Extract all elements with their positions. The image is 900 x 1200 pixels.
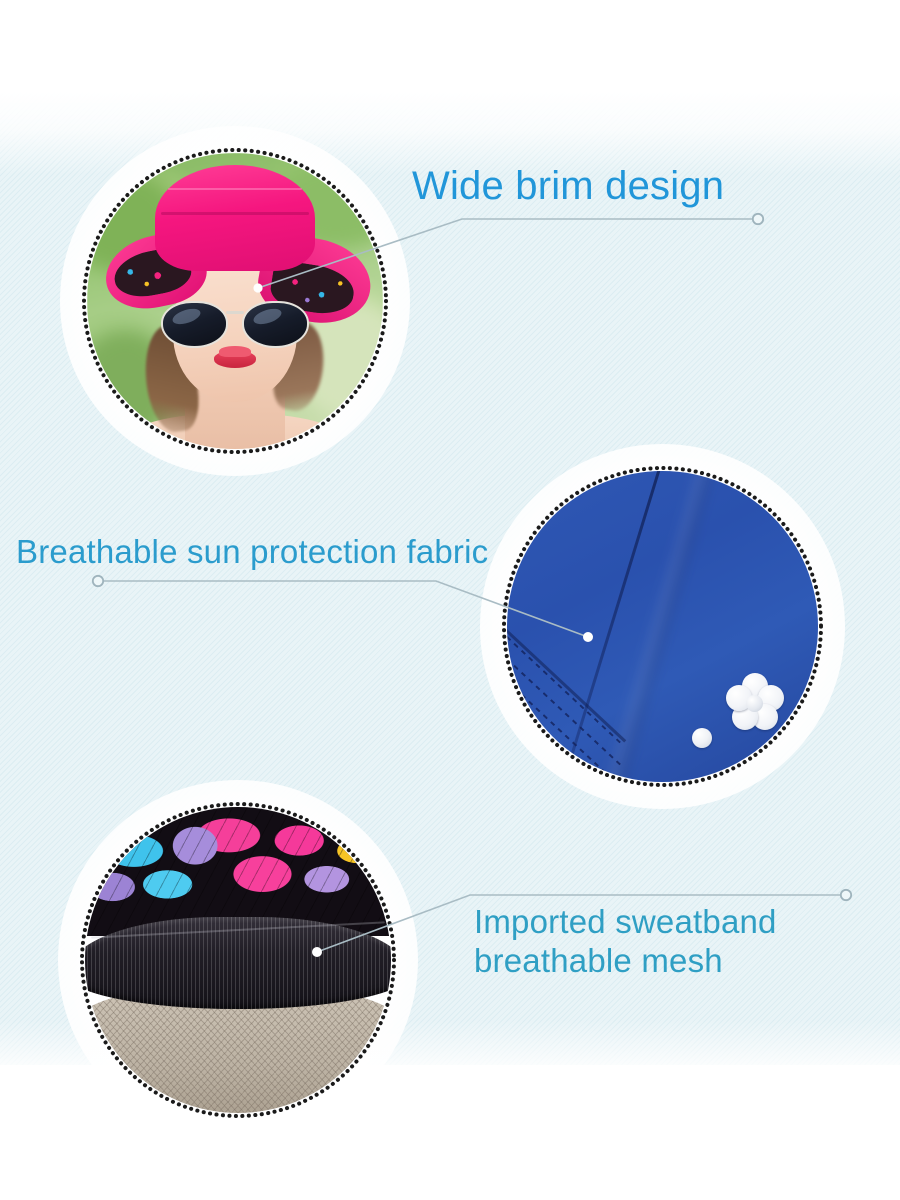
flower-center-pearl bbox=[746, 695, 763, 712]
feature-photo-wide-brim bbox=[80, 146, 390, 456]
sunglasses-lens-left bbox=[161, 301, 228, 348]
feature-caption-imported-sweatband: Imported sweatband breathable mesh bbox=[474, 903, 777, 981]
blue-fabric-surface bbox=[507, 471, 818, 782]
sunglasses-lens-right bbox=[242, 301, 309, 348]
pearl-bead bbox=[794, 748, 809, 763]
photo-royal-blue-fabric-closeup bbox=[507, 471, 818, 782]
pearl-bead bbox=[746, 757, 768, 779]
feature-photo-imported-sweatband bbox=[78, 800, 398, 1120]
visor-crown bbox=[155, 165, 315, 272]
model-lips bbox=[214, 351, 255, 368]
fabric-stitch-row bbox=[507, 639, 623, 782]
feature-photo-breathable-fabric bbox=[500, 464, 825, 789]
feature-caption-breathable-fabric: Breathable sun protection fabric bbox=[16, 533, 488, 572]
infographic-page: Wide brim design Breathable sun protecti… bbox=[0, 0, 900, 1200]
pearl-bead bbox=[692, 728, 712, 748]
feature-caption-wide-brim: Wide brim design bbox=[412, 163, 724, 210]
photo-sweatband-and-mesh-closeup bbox=[85, 807, 391, 1113]
model-sunglasses bbox=[161, 301, 309, 348]
photo-model-wearing-pink-sun-visor bbox=[87, 153, 383, 449]
white-flower-ornament bbox=[726, 674, 784, 732]
sunglasses-bridge bbox=[226, 311, 244, 314]
